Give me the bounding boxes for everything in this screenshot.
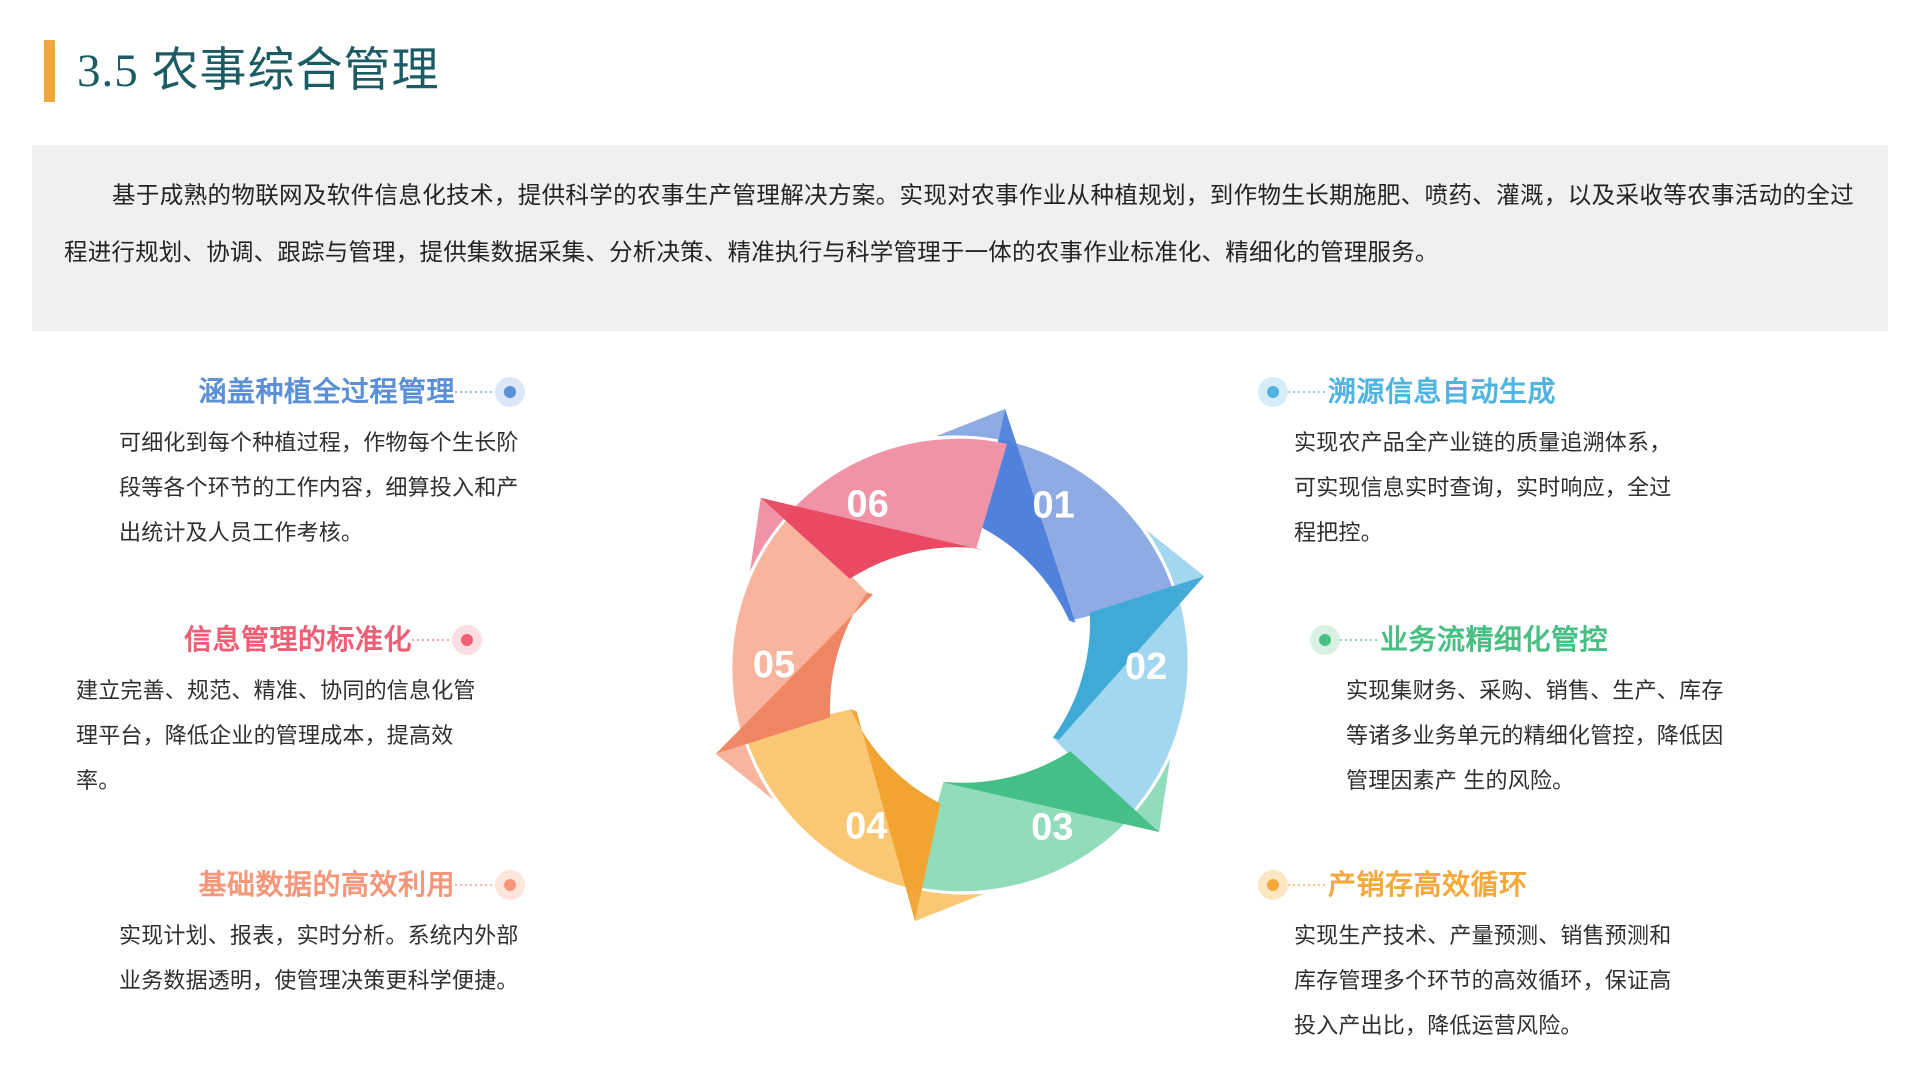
- feature-title: 涵盖种植全过程管理: [198, 378, 455, 406]
- bullet-marker-icon: [495, 377, 525, 407]
- dotted-connector-icon: [455, 884, 495, 886]
- feature-body: 实现集财务、采购、销售、生产、库存等诸多业务单元的精细化管控，降低因 管理因素产…: [1310, 668, 1740, 803]
- feature-heading-row: 涵盖种植全过程管理: [95, 372, 525, 412]
- dotted-connector-icon: [455, 391, 495, 393]
- wheel-label-03: 03: [1031, 807, 1073, 849]
- feature-block-03: 业务流精细化管控 实现集财务、采购、销售、生产、库存等诸多业务单元的精细化管控，…: [1310, 620, 1740, 803]
- feature-title: 业务流精细化管控: [1380, 626, 1608, 654]
- feature-block-01: 涵盖种植全过程管理 可细化到每个种植过程，作物每个生长阶段等各个环节的工作内容，…: [95, 372, 525, 555]
- feature-title: 信息管理的标准化: [184, 626, 412, 654]
- intro-panel: 基于成熟的物联网及软件信息化技术，提供科学的农事生产管理解决方案。实现对农事作业…: [32, 145, 1888, 331]
- feature-block-06: 信息管理的标准化 建立完善、规范、精准、协同的信息化管理平台，降低企业的管理成本…: [52, 620, 482, 803]
- bullet-marker-icon: [452, 625, 482, 655]
- wheel-label-01: 01: [1033, 484, 1075, 526]
- feature-body: 实现农产品全产业链的质量追溯体系，可实现信息实时查询，实时响应，全过程把控。: [1258, 420, 1688, 555]
- bullet-marker-icon: [1258, 377, 1288, 407]
- feature-heading-row: 溯源信息自动生成: [1258, 372, 1688, 412]
- title-accent-bar: [44, 40, 55, 102]
- wheel-label-02: 02: [1125, 646, 1167, 688]
- feature-heading-row: 产销存高效循环: [1258, 865, 1688, 905]
- feature-title: 溯源信息自动生成: [1328, 378, 1556, 406]
- wheel-label-06: 06: [847, 484, 889, 526]
- feature-body: 实现生产技术、产量预测、销售预测和库存管理多个环节的高效循环，保证高投入产出比，…: [1258, 913, 1688, 1048]
- feature-heading-row: 基础数据的高效利用: [95, 865, 525, 905]
- shutter-wheel-diagram: 010203040506: [660, 355, 1260, 975]
- feature-body: 实现计划、报表，实时分析。系统内外部业务数据透明，使管理决策更科学便捷。: [95, 913, 525, 1003]
- bullet-marker-icon: [495, 870, 525, 900]
- feature-body: 可细化到每个种植过程，作物每个生长阶段等各个环节的工作内容，细算投入和产出统计及…: [95, 420, 525, 555]
- dotted-connector-icon: [1288, 884, 1328, 886]
- feature-block-04: 产销存高效循环 实现生产技术、产量预测、销售预测和库存管理多个环节的高效循环，保…: [1258, 865, 1688, 1048]
- intro-text: 基于成熟的物联网及软件信息化技术，提供科学的农事生产管理解决方案。实现对农事作业…: [64, 167, 1854, 281]
- dotted-connector-icon: [1340, 639, 1380, 641]
- wheel-label-04: 04: [845, 806, 887, 848]
- feature-body: 建立完善、规范、精准、协同的信息化管理平台，降低企业的管理成本，提高效率。: [52, 668, 482, 803]
- wheel-label-05: 05: [753, 644, 795, 686]
- feature-heading-row: 业务流精细化管控: [1310, 620, 1740, 660]
- page-title: 3.5 农事综合管理: [77, 48, 440, 95]
- feature-title: 产销存高效循环: [1328, 871, 1528, 899]
- dotted-connector-icon: [412, 639, 452, 641]
- page-title-row: 3.5 农事综合管理: [44, 38, 440, 104]
- feature-block-05: 基础数据的高效利用 实现计划、报表，实时分析。系统内外部业务数据透明，使管理决策…: [95, 865, 525, 1003]
- bullet-marker-icon: [1310, 625, 1340, 655]
- dotted-connector-icon: [1288, 391, 1328, 393]
- bullet-marker-icon: [1258, 870, 1288, 900]
- feature-block-02: 溯源信息自动生成 实现农产品全产业链的质量追溯体系，可实现信息实时查询，实时响应…: [1258, 372, 1688, 555]
- feature-title: 基础数据的高效利用: [198, 871, 455, 899]
- feature-heading-row: 信息管理的标准化: [52, 620, 482, 660]
